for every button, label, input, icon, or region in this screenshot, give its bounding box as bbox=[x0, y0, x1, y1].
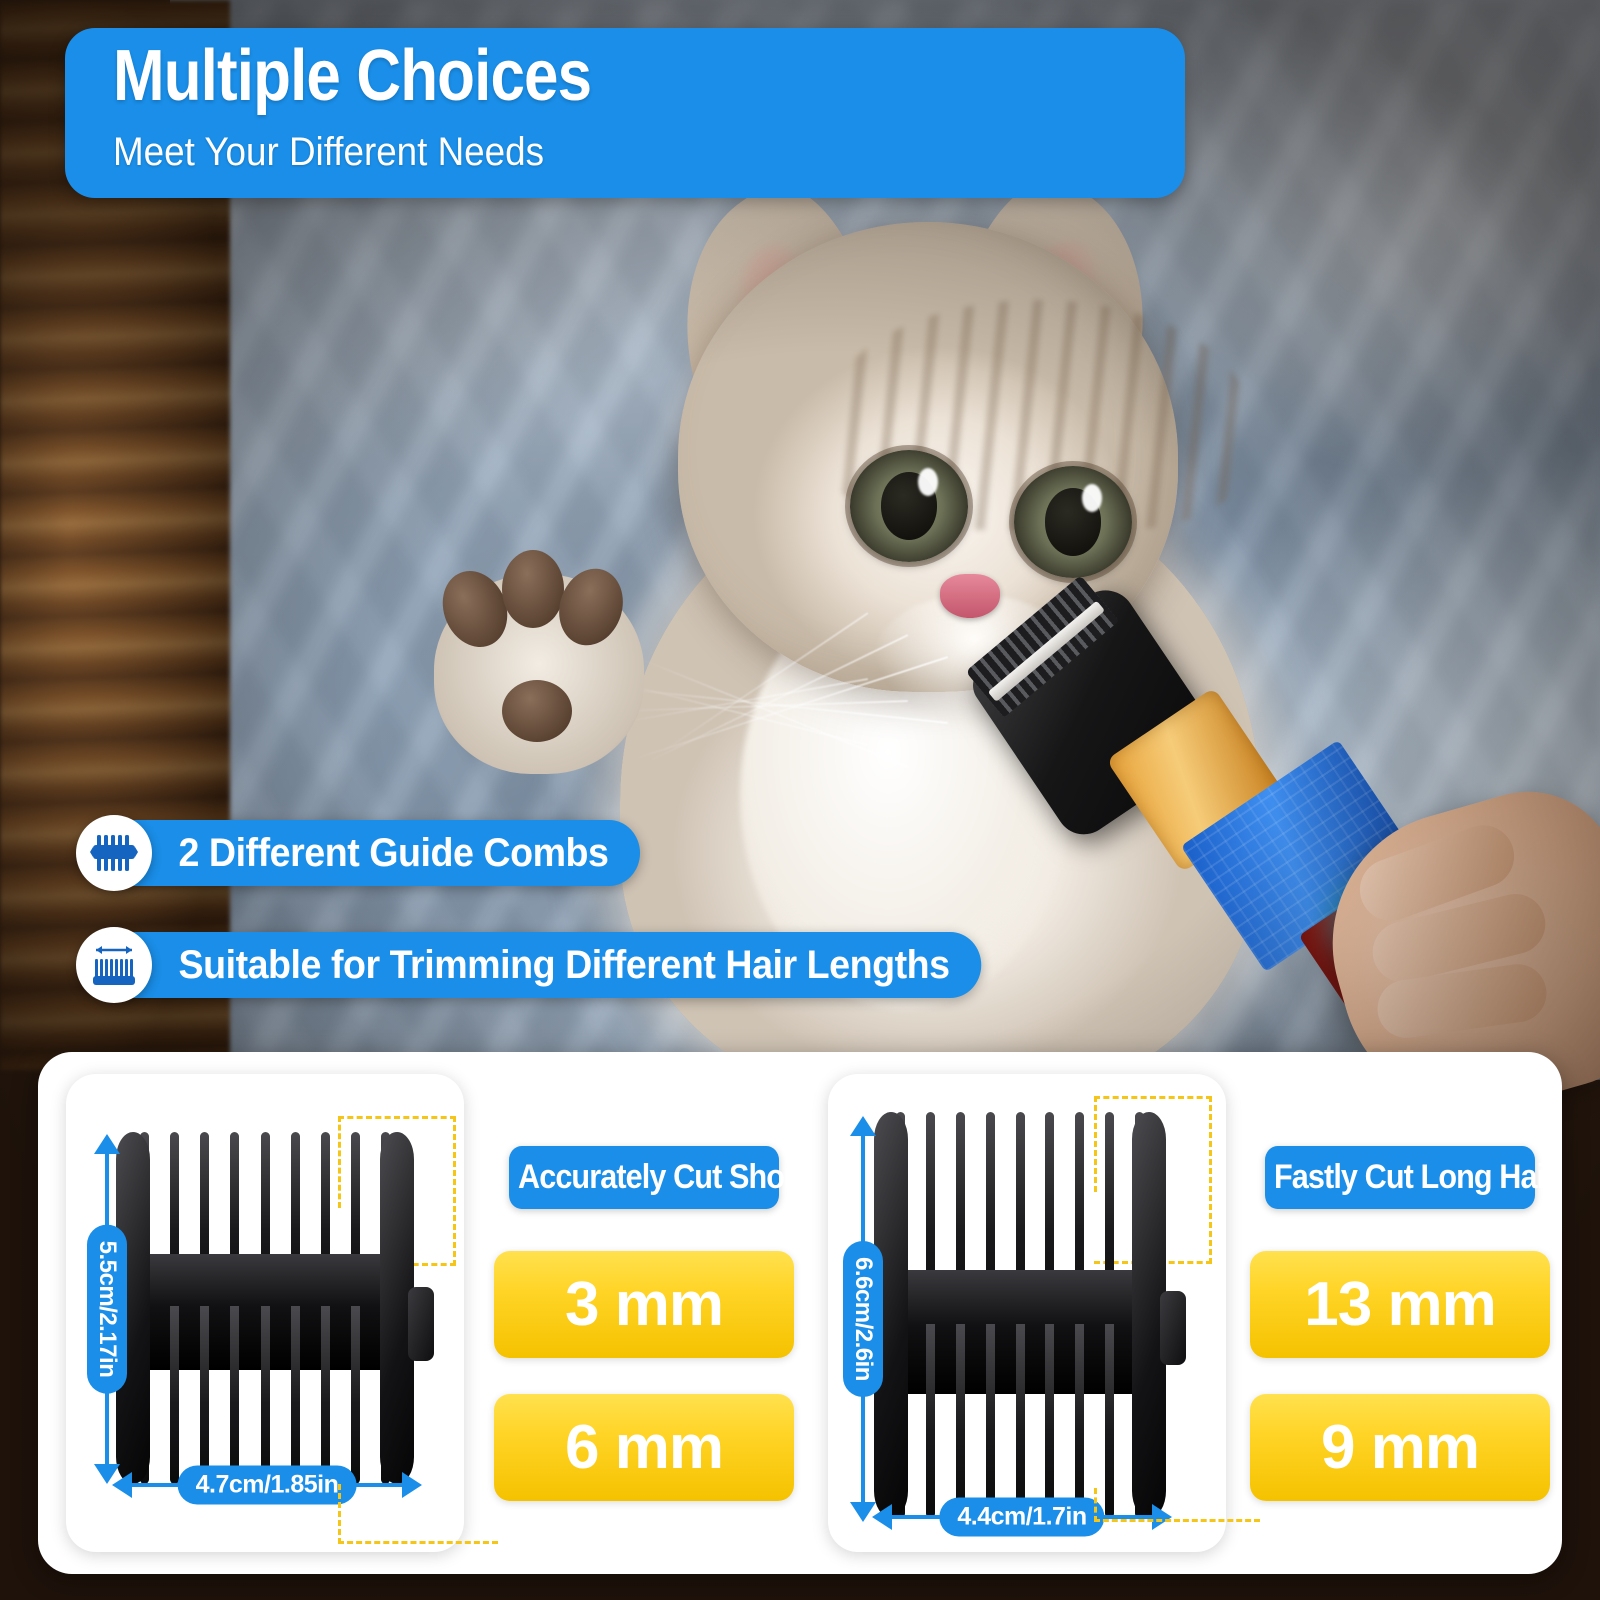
dashed-connector-bottom bbox=[338, 1484, 498, 1544]
comb-width-label: 4.7cm/1.85in bbox=[178, 1466, 357, 1505]
page-subtitle: Meet Your Different Needs bbox=[113, 132, 1099, 172]
comb-width-arrow-icon-svg bbox=[88, 942, 140, 988]
feature-badge-hair-lengths: Suitable for Trimming Different Hair Len… bbox=[76, 932, 1038, 998]
spec-title-long-hair: Fastly Cut Long Hair bbox=[1265, 1146, 1535, 1209]
spec-size-badge: 6 mm bbox=[494, 1394, 794, 1501]
comb-graphic-short bbox=[140, 1132, 390, 1484]
comb-width-arrow-icon bbox=[76, 927, 152, 1003]
spec-labels-short-hair: Accurately Cut Short Hair 3 mm 6 mm bbox=[494, 1146, 794, 1501]
comb-nub-right bbox=[408, 1287, 434, 1361]
arrow-up-icon bbox=[94, 1134, 120, 1154]
header-banner: Multiple Choices Meet Your Different Nee… bbox=[65, 28, 1185, 198]
comb-teeth-bottom bbox=[140, 1306, 390, 1484]
spec-labels-long-hair: Fastly Cut Long Hair 13 mm 9 mm bbox=[1250, 1146, 1550, 1501]
page-title: Multiple Choices bbox=[113, 40, 1035, 112]
feature-label: 2 Different Guide Combs bbox=[92, 820, 640, 886]
spec-title-short-hair: Accurately Cut Short Hair bbox=[509, 1146, 779, 1209]
arrow-left-icon bbox=[112, 1472, 132, 1498]
spec-size-badge: 9 mm bbox=[1250, 1394, 1550, 1501]
comb-height-dimension: 5.5cm/2.17in bbox=[94, 1134, 120, 1484]
arrow-left-icon bbox=[872, 1504, 892, 1530]
comb-height-label: 6.6cm/2.6in bbox=[843, 1241, 883, 1397]
comb-icon bbox=[76, 815, 152, 891]
feature-label: Suitable for Trimming Different Hair Len… bbox=[92, 932, 982, 998]
feature-badge-guide-combs: 2 Different Guide Combs bbox=[76, 820, 675, 886]
comb-icon-svg bbox=[90, 831, 138, 875]
comb-height-label: 5.5cm/2.17in bbox=[87, 1225, 127, 1394]
comb-nub-right bbox=[1160, 1291, 1186, 1365]
dashed-connector-bottom bbox=[1094, 1488, 1260, 1522]
comb-graphic-long bbox=[896, 1112, 1144, 1518]
spec-size-badge: 13 mm bbox=[1250, 1251, 1550, 1358]
spec-card-short-hair-comb: 5.5cm/2.17in 4.7cm/1.85in bbox=[66, 1074, 464, 1552]
spec-card-long-hair-comb: 6.6cm/2.6in 4.4cm/1.7in bbox=[828, 1074, 1226, 1552]
specs-panel: 5.5cm/2.17in 4.7cm/1.85in Accurately Cut… bbox=[38, 1052, 1562, 1574]
comb-width-label: 4.4cm/1.7in bbox=[939, 1498, 1104, 1537]
arrow-up-icon bbox=[850, 1116, 876, 1136]
comb-height-dimension: 6.6cm/2.6in bbox=[850, 1116, 876, 1522]
spec-size-badge: 3 mm bbox=[494, 1251, 794, 1358]
